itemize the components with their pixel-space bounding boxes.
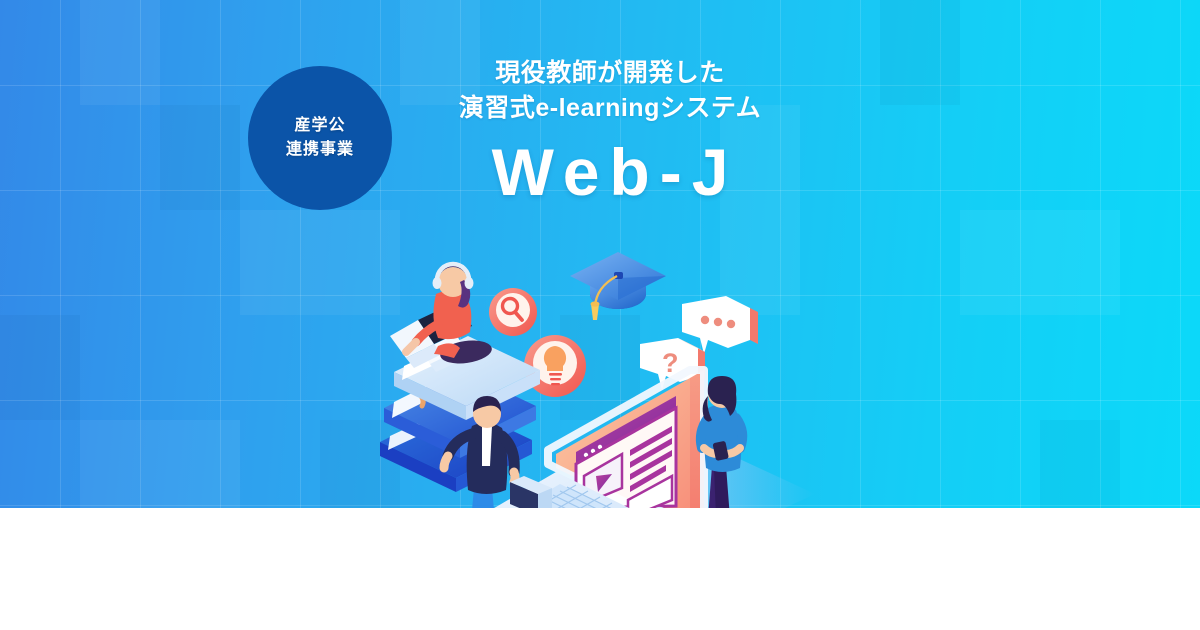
grid-cell [160, 105, 240, 210]
grid-cell [0, 315, 80, 420]
bottom-white-band [0, 508, 1200, 630]
grid-cell [80, 0, 160, 105]
badge-line-2: 連携事業 [286, 141, 354, 159]
badge-line-1: 産学公 [294, 117, 345, 135]
hero-banner: 産学公 連携事業 現役教師が開発した 演習式e-learningシステム Web… [0, 0, 1200, 630]
headline-block: 現役教師が開発した 演習式e-learningシステム Web-J [400, 56, 820, 205]
search-badge-icon [489, 288, 537, 336]
person-sitting-with-laptop [390, 264, 493, 368]
brand-title: Web-J [400, 139, 820, 205]
chat-bubble-icon [682, 296, 758, 354]
partnership-badge: 産学公 連携事業 [248, 66, 392, 210]
grid-cell [960, 210, 1120, 315]
lightbulb-badge-icon [524, 335, 586, 397]
grid-cell [1040, 420, 1120, 508]
grid-cell [80, 420, 240, 508]
headline-line-1: 現役教師が開発した [400, 56, 820, 91]
grid-cell [880, 0, 960, 105]
headline-line-2: 演習式e-learningシステム [400, 91, 820, 126]
graduation-cap-icon [570, 252, 666, 320]
